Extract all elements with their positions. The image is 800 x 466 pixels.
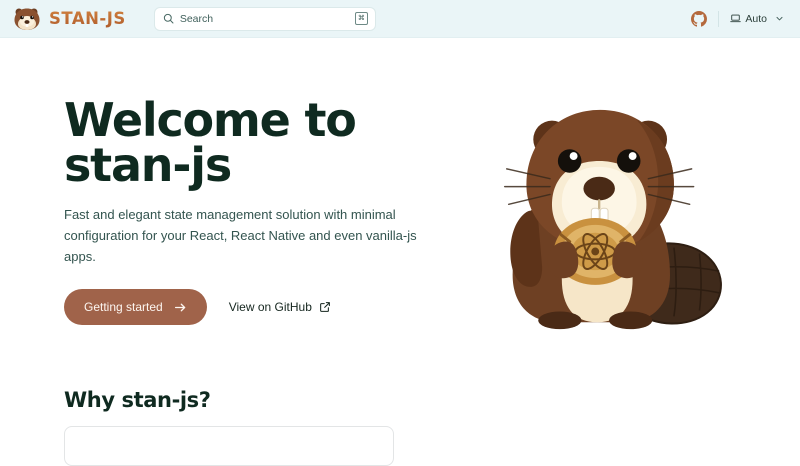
github-icon[interactable] (689, 9, 709, 29)
main-content: Welcome to stan-js Fast and elegant stat… (0, 38, 800, 466)
site-header: STAN-JS Search ⌘ Auto (0, 0, 800, 38)
hero-section: Welcome to stan-js Fast and elegant stat… (0, 38, 800, 340)
arrow-right-icon (174, 301, 187, 314)
page-title: Welcome to stan-js (64, 98, 420, 188)
header-actions: Auto (689, 9, 786, 29)
why-section: Why stan-js? (0, 388, 800, 466)
search-input[interactable]: Search ⌘ (154, 7, 376, 31)
getting-started-button[interactable]: Getting started (64, 289, 207, 325)
theme-label: Auto (745, 13, 767, 25)
external-link-icon (319, 301, 331, 313)
theme-selector[interactable]: Auto (728, 11, 786, 27)
view-on-github-label: View on GitHub (229, 300, 312, 314)
why-section-title: Why stan-js? (64, 388, 800, 412)
laptop-icon (730, 13, 741, 24)
hero-subtitle: Fast and elegant state management soluti… (64, 204, 420, 267)
getting-started-label: Getting started (84, 300, 163, 314)
header-divider (718, 11, 719, 27)
chevron-down-icon (775, 14, 784, 23)
hero-copy: Welcome to stan-js Fast and elegant stat… (0, 98, 420, 325)
view-on-github-link[interactable]: View on GitHub (229, 300, 331, 314)
hero-illustration (420, 98, 800, 340)
beaver-mascot-icon (487, 102, 733, 340)
brand-wordmark: STAN-JS (49, 9, 126, 28)
beaver-head-icon (12, 7, 42, 31)
hero-actions: Getting started View on GitHub (64, 289, 420, 325)
search-icon (163, 13, 174, 24)
search-placeholder: Search (174, 13, 355, 25)
search-shortcut-badge: ⌘ (355, 12, 368, 25)
feature-card[interactable] (64, 426, 394, 466)
brand-home-link[interactable]: STAN-JS (12, 7, 126, 31)
